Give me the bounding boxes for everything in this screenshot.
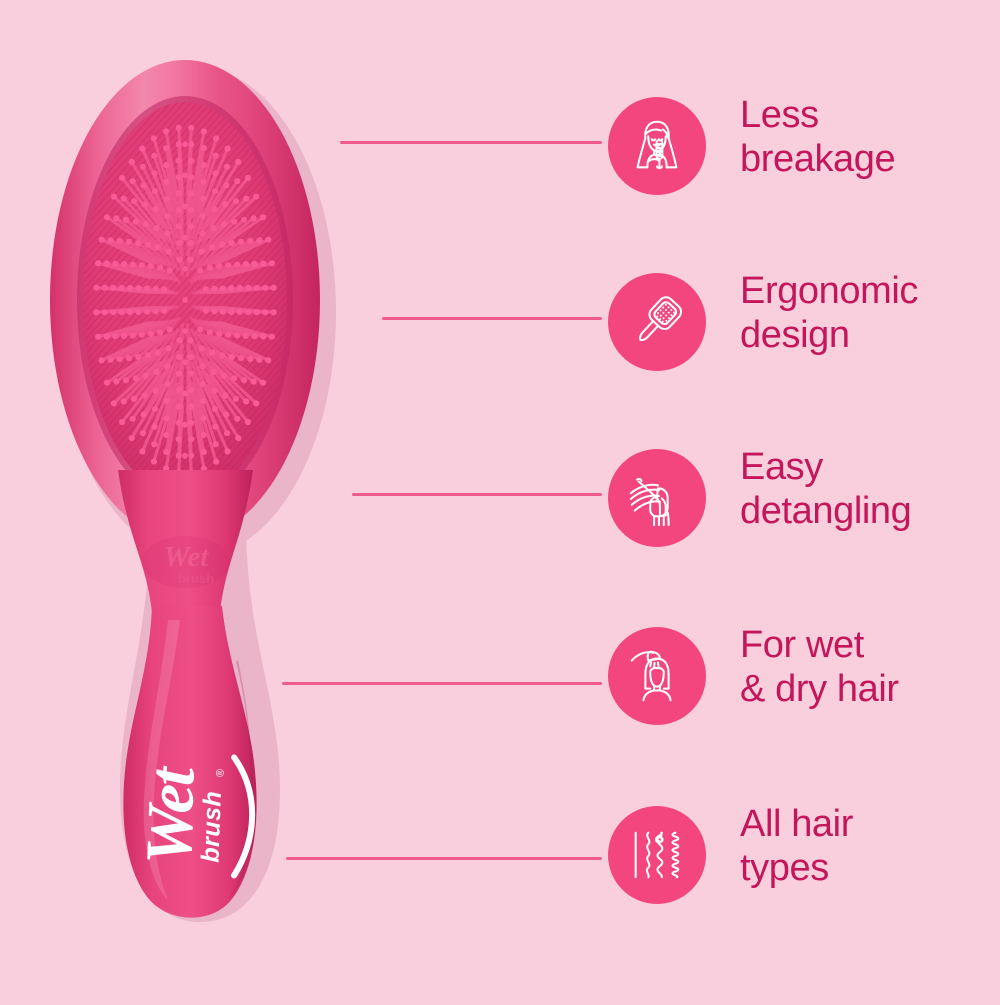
feature-label: Less breakage	[740, 93, 1000, 182]
hair-type-curly	[657, 833, 662, 878]
connector-line-5	[286, 857, 602, 860]
hair-type-coily	[673, 833, 679, 878]
connector-line-4	[282, 682, 602, 685]
feature-label: Ergonomic design	[740, 269, 1000, 358]
connector-line-3	[352, 493, 602, 496]
feature-for-wet-and-dry-hair[interactable]: For wet & dry hair	[600, 627, 1000, 737]
feature-all-hair-types[interactable]: All hair types	[600, 806, 1000, 916]
brush-illustration: Wet brush Wet brush ®	[0, 0, 360, 1000]
feature-icon-circle	[608, 806, 706, 904]
handle-logo-trademark: ®	[214, 769, 226, 778]
connector-line-1	[340, 141, 602, 144]
feature-icon-circle	[608, 97, 706, 195]
feature-label: All hair types	[740, 802, 1000, 891]
shower-head-over-head-icon	[626, 645, 688, 707]
feature-ergonomic-design[interactable]: Ergonomic design	[600, 273, 1000, 383]
hand-detangling-hair-icon	[626, 467, 688, 529]
neck-logo-primary: Wet	[164, 541, 210, 573]
feature-easy-detangling[interactable]: Easy detangling	[600, 449, 1000, 559]
feature-label: For wet & dry hair	[740, 623, 1000, 712]
product-image-hair-brush: Wet brush Wet brush ®	[0, 0, 360, 1000]
neck-logo-secondary: brush	[178, 571, 214, 586]
hair-type-wavy	[647, 833, 649, 878]
feature-less-breakage[interactable]: Less breakage	[600, 97, 1000, 207]
paddle-brush-icon	[626, 291, 688, 353]
woman-brushing-hair-icon	[626, 115, 688, 177]
handle-logo-secondary: brush	[196, 790, 226, 863]
feature-icon-circle	[608, 273, 706, 371]
connector-line-2	[382, 317, 602, 320]
feature-icon-circle	[608, 449, 706, 547]
feature-label: Easy detangling	[740, 445, 1000, 534]
infographic-canvas: Wet brush Wet brush ®	[0, 0, 1000, 1000]
brush-neck-emboss-logo: Wet brush	[142, 536, 230, 588]
hair-texture-types-icon	[626, 824, 688, 886]
feature-icon-circle	[608, 627, 706, 725]
